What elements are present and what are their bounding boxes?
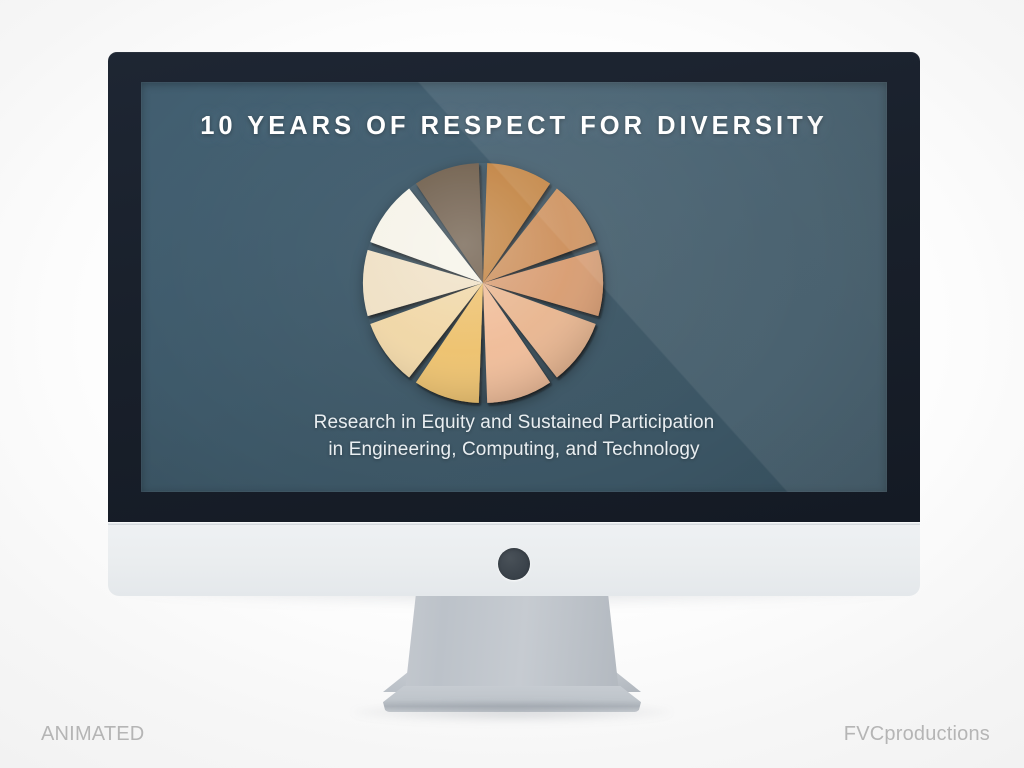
monitor-bezel: 10 YEARS OF RESPECT FOR DIVERSITY [108, 52, 920, 522]
pie-chart [357, 157, 609, 409]
pie-chart-svg [357, 157, 609, 409]
slide-subtitle-line-1: Research in Equity and Sustained Partici… [141, 409, 887, 436]
slide-subtitle: Research in Equity and Sustained Partici… [141, 409, 887, 463]
slide-subtitle-line-2: in Engineering, Computing, and Technolog… [141, 436, 887, 463]
footer-brand-watermark: FVCproductions [844, 723, 990, 746]
slide-title: 10 YEARS OF RESPECT FOR DIVERSITY [141, 112, 887, 141]
monitor-stand-neck [405, 596, 619, 692]
monitor-device: 10 YEARS OF RESPECT FOR DIVERSITY [108, 52, 920, 596]
page-root: 10 YEARS OF RESPECT FOR DIVERSITY [0, 0, 1024, 768]
monitor-chin-panel [108, 522, 920, 596]
stand-drop-shadow [352, 702, 672, 722]
chin-seam-line [108, 522, 920, 525]
footer-animated-label: ANIMATED [41, 723, 144, 746]
pie-shading-overlay [363, 163, 603, 403]
power-button[interactable] [498, 548, 530, 580]
monitor-screen[interactable]: 10 YEARS OF RESPECT FOR DIVERSITY [141, 82, 887, 492]
